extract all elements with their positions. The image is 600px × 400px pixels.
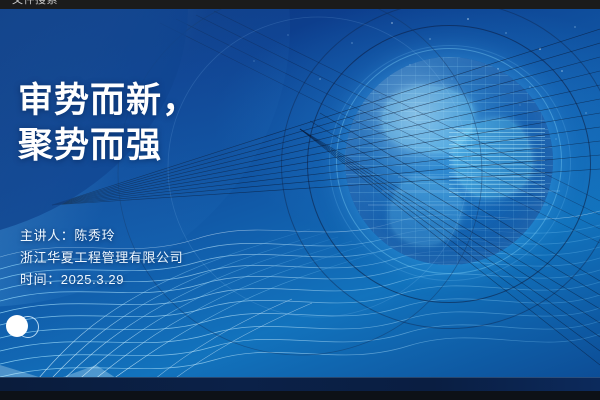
date-line: 时间：2025.3.29 — [20, 269, 183, 291]
globe-landmass — [382, 86, 474, 153]
toolbar-title: 文件搜索 — [12, 0, 58, 6]
slide-meta: 主讲人：陈秀玲 浙江华夏工程管理有限公司 时间：2025.3.29 — [20, 225, 183, 291]
presenter-line: 主讲人：陈秀玲 — [20, 225, 183, 247]
app-toolbar: 文件搜索 — [0, 0, 600, 9]
globe-sphere — [345, 57, 553, 265]
company-line: 浙江华夏工程管理有限公司 — [20, 247, 183, 269]
globe-data-bars — [449, 128, 545, 199]
globe-landmass — [391, 178, 462, 245]
digital-globe — [345, 57, 553, 265]
title-line-2: 聚势而强 — [18, 123, 198, 168]
slide-title: 审势而新， 聚势而强 — [18, 78, 198, 168]
decorative-circles — [6, 315, 52, 341]
slide-canvas: 审势而新， 聚势而强 主讲人：陈秀玲 浙江华夏工程管理有限公司 时间：2025.… — [0, 9, 600, 391]
circle-filled — [6, 315, 28, 337]
globe-landmass — [453, 119, 532, 198]
title-line-1: 审势而新， — [18, 78, 198, 123]
slide-bottom-band — [0, 377, 600, 391]
presentation-window: 文件搜索 — [0, 0, 600, 400]
